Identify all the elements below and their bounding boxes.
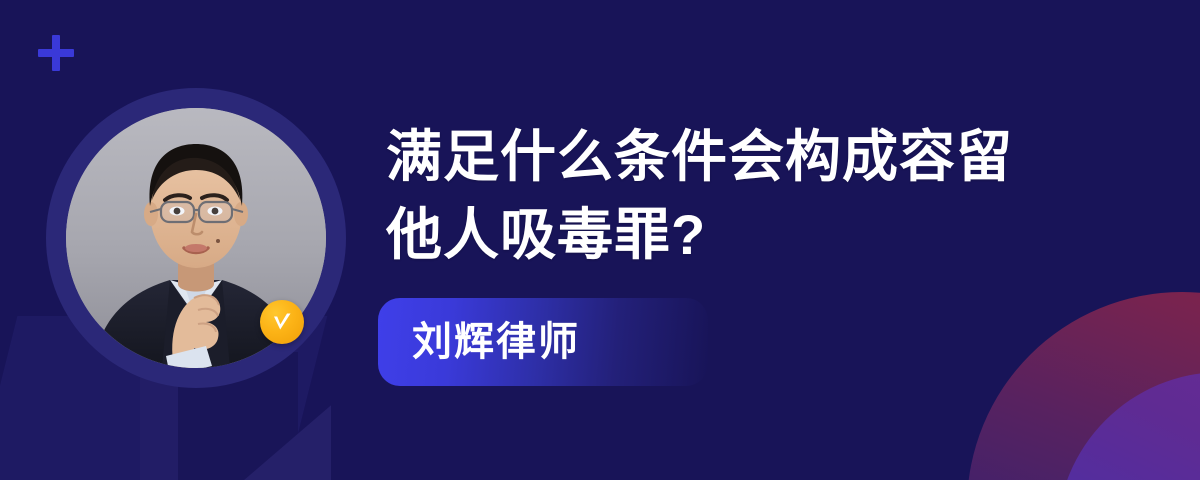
- lawyer-name-badge[interactable]: 刘辉律师: [378, 298, 708, 386]
- verified-check-icon: [260, 300, 304, 344]
- lawyer-question-banner: 满足什么条件会构成容留 他人吸毒罪? 刘辉律师: [0, 0, 1200, 480]
- plus-icon: [38, 35, 74, 71]
- decor-circle-outer: [967, 292, 1200, 480]
- avatar: [46, 88, 346, 388]
- content-column: 满足什么条件会构成容留 他人吸毒罪? 刘辉律师: [386, 118, 1106, 274]
- lawyer-name-label: 刘辉律师: [412, 322, 580, 362]
- page-title: 满足什么条件会构成容留 他人吸毒罪?: [386, 118, 1106, 274]
- decor-circle-inner: [1057, 372, 1200, 480]
